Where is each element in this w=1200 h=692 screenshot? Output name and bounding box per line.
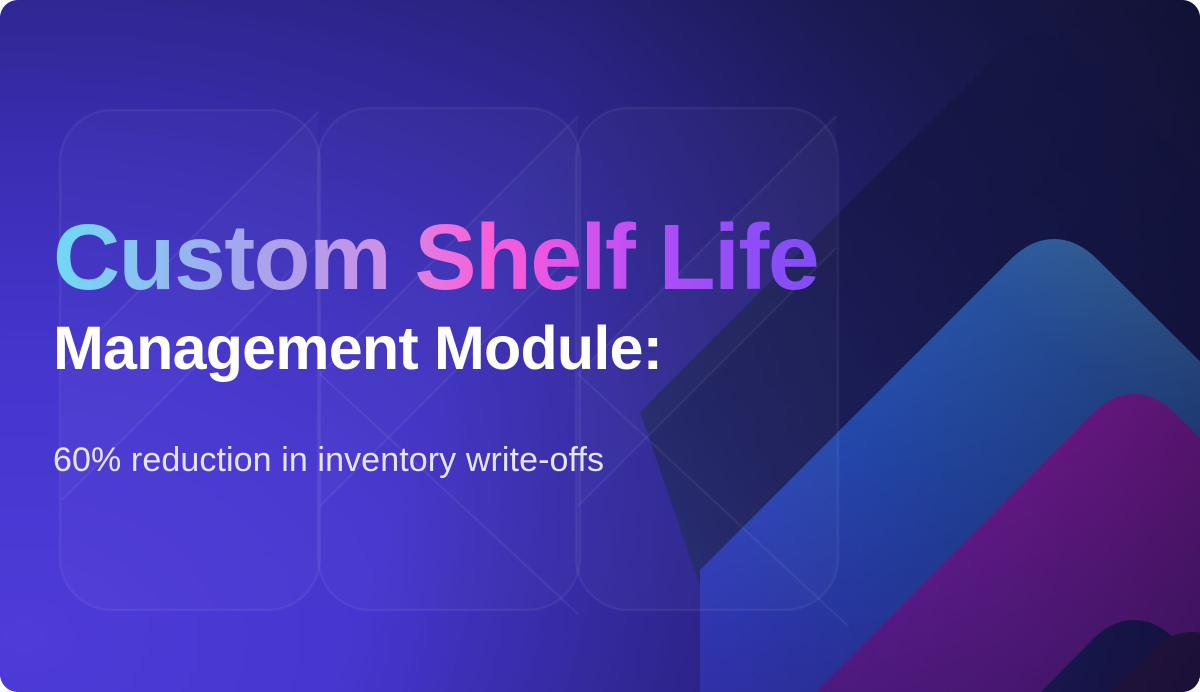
banner-title-secondary: Management Module: (53, 316, 873, 380)
banner-subtitle: 60% reduction in inventory write-offs (53, 440, 873, 481)
banner-title-primary: Custom Shelf Life (53, 211, 873, 304)
banner-content: Custom Shelf Life Management Module: 60%… (53, 0, 873, 692)
hero-banner: Custom Shelf Life Management Module: 60%… (0, 0, 1200, 692)
